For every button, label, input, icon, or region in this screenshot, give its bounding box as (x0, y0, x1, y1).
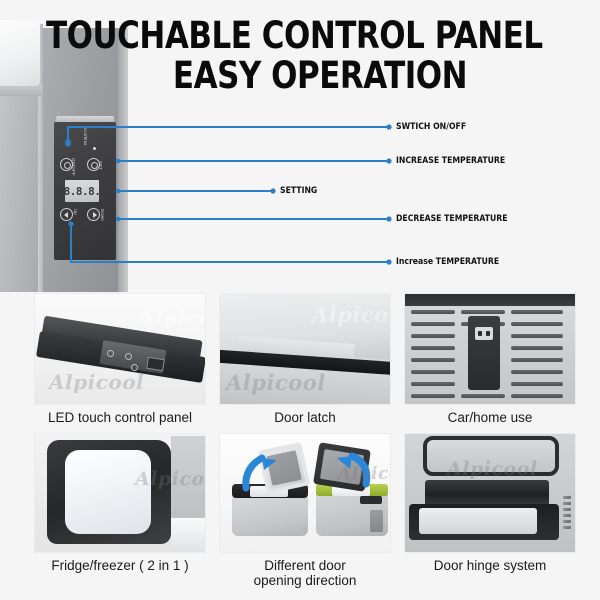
callout-arrow-2 (386, 158, 391, 163)
arrow-left-icon (246, 458, 262, 488)
callout-arrow-3 (270, 188, 275, 193)
callout-dot-2 (116, 159, 121, 164)
power-plug-icon (475, 327, 493, 340)
callout-label-setting: SETTING (280, 186, 317, 196)
callout-dot-3 (116, 189, 121, 194)
callout-dot-5 (68, 221, 73, 226)
door-hinge-system-photo: Alpicool (405, 434, 575, 552)
watermark: Alpicool (49, 370, 144, 394)
callout-lines (0, 0, 600, 292)
callout-arrow-1 (386, 124, 391, 129)
feature-caption: Door latch (220, 410, 390, 425)
feature-caption: Door hinge system (405, 558, 575, 573)
car-home-use-photo (405, 294, 575, 404)
callout-label-increase-temperature: INCREASE TEMPERATURE (396, 156, 505, 166)
feature-card-door-latch[interactable]: Alpicool Alpicool Door latch (220, 294, 390, 425)
feature-card-door-hinge-system[interactable]: Alpicool Door hinge system (405, 434, 575, 573)
callout-label-decrease-temperature: DECREASE TEMPERATURE (396, 214, 508, 224)
arrow-right-icon (352, 456, 367, 484)
callout-label-increase-temperature-2: Increase TEMPERATURE (396, 257, 499, 267)
feature-grid: Alpicool Alpicool LED touch control pane… (0, 292, 600, 600)
door-opening-direction-photo: Alpicool (220, 434, 390, 552)
feature-card-led-panel[interactable]: Alpicool Alpicool LED touch control pane… (35, 294, 205, 425)
door-latch-photo: Alpicool Alpicool (220, 294, 390, 404)
feature-caption-line-2: opening direction (220, 573, 390, 588)
callout-arrow-4 (386, 216, 391, 221)
callout-dot-4 (116, 217, 121, 222)
feature-card-fridge-freezer[interactable]: Alpicool Fridge/freezer ( 2 in 1 ) (35, 434, 205, 573)
direction-arrows (220, 434, 390, 552)
callout-line-1 (68, 127, 389, 144)
hero-section: Eco/Max ON/OFF SET 8.8.8. Up Down TOUCHA… (0, 0, 600, 292)
feature-caption: Fridge/freezer ( 2 in 1 ) (35, 558, 205, 573)
callout-dot-1 (65, 141, 70, 146)
product-infographic: Eco/Max ON/OFF SET 8.8.8. Up Down TOUCHA… (0, 0, 600, 600)
watermark: Alpicool (139, 306, 205, 330)
feature-caption-line-1: Different door (220, 558, 390, 573)
led-touch-control-panel-photo: Alpicool Alpicool (35, 294, 205, 404)
callout-line-5 (71, 224, 389, 262)
callout-label-switch-on-off: SWTICH ON/OFF (396, 122, 466, 132)
feature-caption: LED touch control panel (35, 410, 205, 425)
callout-arrow-5 (386, 259, 391, 264)
feature-caption: Different door opening direction (220, 558, 390, 588)
feature-caption: Car/home use (405, 410, 575, 425)
fridge-freezer-photo: Alpicool (35, 434, 205, 552)
feature-card-car-home-use[interactable]: Car/home use (405, 294, 575, 425)
feature-card-door-opening-direction[interactable]: Alpicool Different door opening directio… (220, 434, 390, 588)
